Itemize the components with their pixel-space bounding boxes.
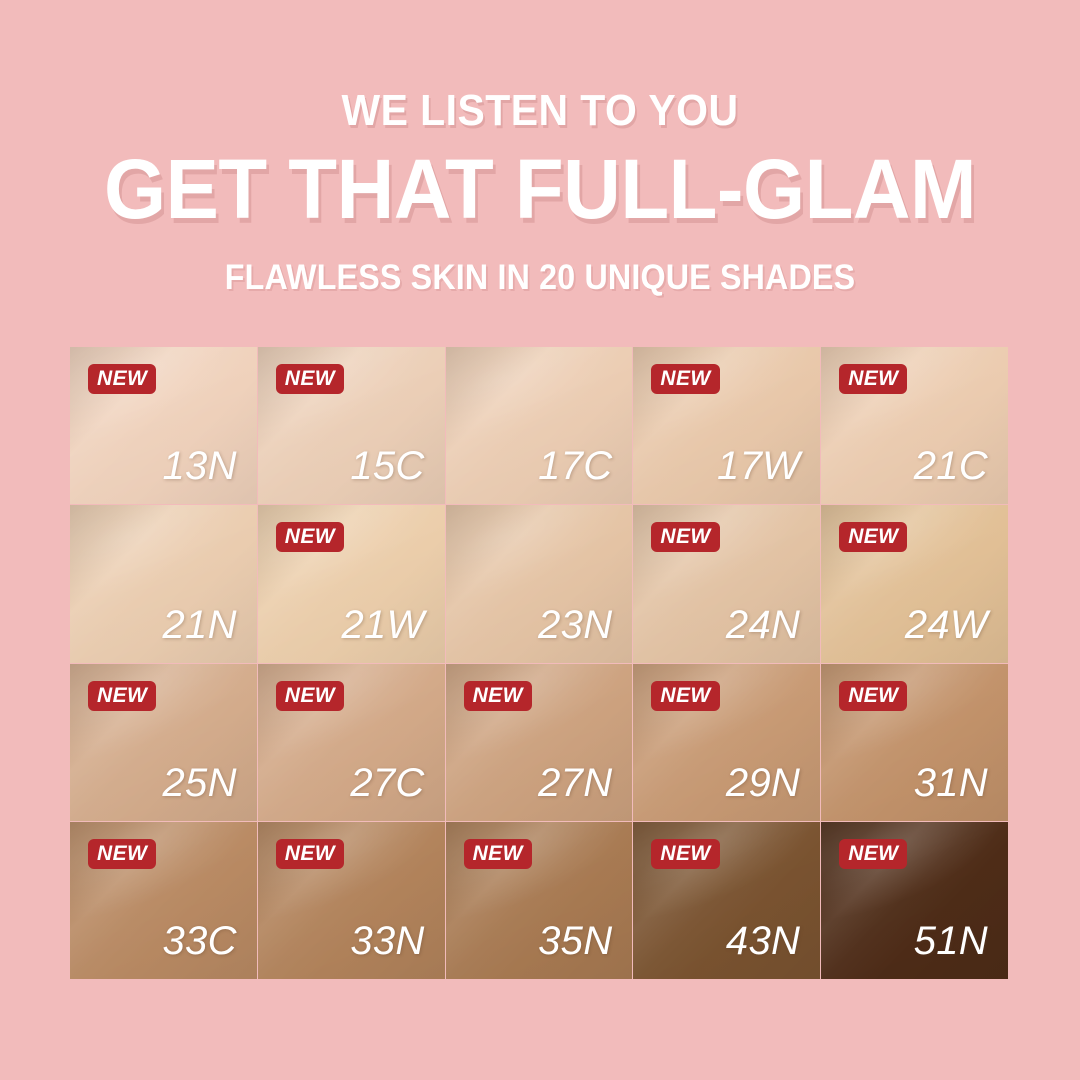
shade-code-label: 17C [538, 446, 612, 486]
new-badge: NEW [88, 364, 156, 394]
page-title: GET THAT FULL-GLAM [27, 147, 1053, 231]
headline-block: WE LISTEN TO YOU GET THAT FULL-GLAM FLAW… [0, 88, 1080, 297]
shade-swatch[interactable]: NEW21W [258, 505, 445, 662]
shade-swatch[interactable]: NEW43N [633, 822, 820, 979]
shade-code-label: 24N [726, 605, 800, 645]
shade-swatch[interactable]: NEW31N [821, 664, 1008, 821]
shade-swatch[interactable]: NEW29N [633, 664, 820, 821]
shade-code-label: 29N [726, 763, 800, 803]
new-badge: NEW [88, 839, 156, 869]
shade-code-label: 15C [350, 446, 424, 486]
new-badge: NEW [839, 522, 907, 552]
new-badge: NEW [839, 681, 907, 711]
shade-swatch[interactable]: 21N [70, 505, 257, 662]
shade-code-label: 27N [538, 763, 612, 803]
shade-code-label: 31N [914, 763, 988, 803]
shade-code-label: 33C [163, 921, 237, 961]
new-badge: NEW [651, 364, 719, 394]
shade-code-label: 25N [163, 763, 237, 803]
new-badge: NEW [464, 839, 532, 869]
new-badge: NEW [651, 839, 719, 869]
new-badge: NEW [88, 681, 156, 711]
shade-swatch[interactable]: NEW33C [70, 822, 257, 979]
new-badge: NEW [651, 681, 719, 711]
shade-swatch[interactable]: NEW27N [446, 664, 633, 821]
shade-swatch[interactable]: 23N [446, 505, 633, 662]
shade-swatch[interactable]: NEW25N [70, 664, 257, 821]
new-badge: NEW [651, 522, 719, 552]
shade-swatch[interactable]: NEW24N [633, 505, 820, 662]
shade-code-label: 33N [350, 921, 424, 961]
new-badge: NEW [276, 522, 344, 552]
shade-code-label: 51N [914, 921, 988, 961]
shade-code-label: 27C [350, 763, 424, 803]
shade-swatch[interactable]: NEW21C [821, 347, 1008, 504]
shade-code-label: 21C [914, 446, 988, 486]
shade-code-label: 17W [717, 446, 800, 486]
new-badge: NEW [839, 364, 907, 394]
shade-range-promo-card: WE LISTEN TO YOU GET THAT FULL-GLAM FLAW… [0, 0, 1080, 1080]
shade-code-label: 13N [163, 446, 237, 486]
shade-swatch-grid: NEW13NNEW15C17CNEW17WNEW21C21NNEW21W23NN… [70, 347, 1008, 979]
shade-code-label: 21N [163, 605, 237, 645]
shade-swatch[interactable]: NEW35N [446, 822, 633, 979]
shade-code-label: 21W [341, 605, 424, 645]
shade-swatch[interactable]: NEW13N [70, 347, 257, 504]
shade-swatch[interactable]: NEW15C [258, 347, 445, 504]
new-badge: NEW [276, 364, 344, 394]
shade-swatch[interactable]: NEW51N [821, 822, 1008, 979]
new-badge: NEW [276, 681, 344, 711]
new-badge: NEW [276, 839, 344, 869]
shade-code-label: 23N [538, 605, 612, 645]
shade-swatch[interactable]: NEW27C [258, 664, 445, 821]
shade-code-label: 35N [538, 921, 612, 961]
shade-swatch[interactable]: 17C [446, 347, 633, 504]
shade-swatch[interactable]: NEW24W [821, 505, 1008, 662]
shade-code-label: 43N [726, 921, 800, 961]
new-badge: NEW [839, 839, 907, 869]
shade-code-label: 24W [905, 605, 988, 645]
new-badge: NEW [464, 681, 532, 711]
subheadline-text: FLAWLESS SKIN IN 20 UNIQUE SHADES [43, 259, 1037, 298]
shade-swatch[interactable]: NEW33N [258, 822, 445, 979]
eyebrow-text: WE LISTEN TO YOU [38, 88, 1042, 135]
shade-swatch[interactable]: NEW17W [633, 347, 820, 504]
